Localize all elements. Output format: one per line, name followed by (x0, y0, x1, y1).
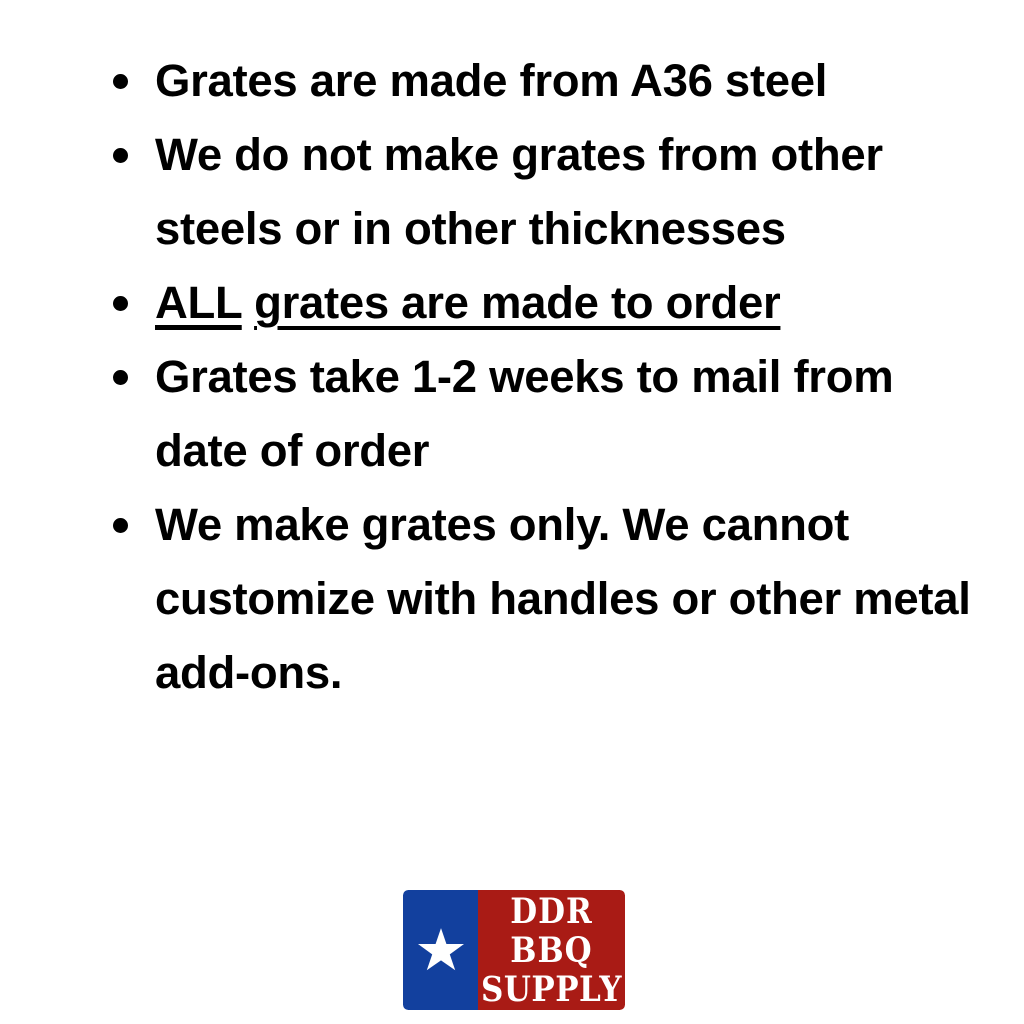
bullet-emphasis-word: ALL (155, 277, 242, 328)
bullet-text-underlined: ALL grates are made to order (155, 266, 984, 340)
list-item: We do not make grates from other steels … (104, 118, 984, 266)
logo-text-supply: SUPPLY (481, 973, 622, 1008)
ddr-bbq-supply-logo: DDR BBQ SUPPLY (403, 890, 625, 1010)
bullet-point-icon (113, 74, 128, 89)
poster-canvas: Grates are made from A36 steel We do not… (0, 0, 1024, 1024)
bullet-emphasis-rest: grates are made to order (254, 277, 780, 328)
list-item: We make grates only. We cannot customize… (104, 488, 984, 710)
bullet-text: We do not make grates from other steels … (155, 118, 984, 266)
list-item: Grates are made from A36 steel (104, 44, 984, 118)
logo-text-ddr: DDR (510, 895, 593, 930)
star-icon (418, 927, 464, 973)
bullet-point-icon (113, 370, 128, 385)
bullet-point-icon (113, 296, 128, 311)
logo-red-panel: DDR BBQ SUPPLY (478, 890, 625, 1010)
list-item: ALL grates are made to order (104, 266, 984, 340)
bullet-text: We make grates only. We cannot customize… (155, 488, 984, 710)
logo-blue-panel (403, 890, 478, 1010)
bullet-point-icon (113, 518, 128, 533)
bullet-text: Grates are made from A36 steel (155, 44, 984, 118)
list-item: Grates take 1-2 weeks to mail from date … (104, 340, 984, 488)
bullet-text: Grates take 1-2 weeks to mail from date … (155, 340, 984, 488)
bullet-point-icon (113, 148, 128, 163)
policy-bullet-list: Grates are made from A36 steel We do not… (104, 44, 984, 710)
logo-text-bbq: BBQ (510, 934, 592, 969)
